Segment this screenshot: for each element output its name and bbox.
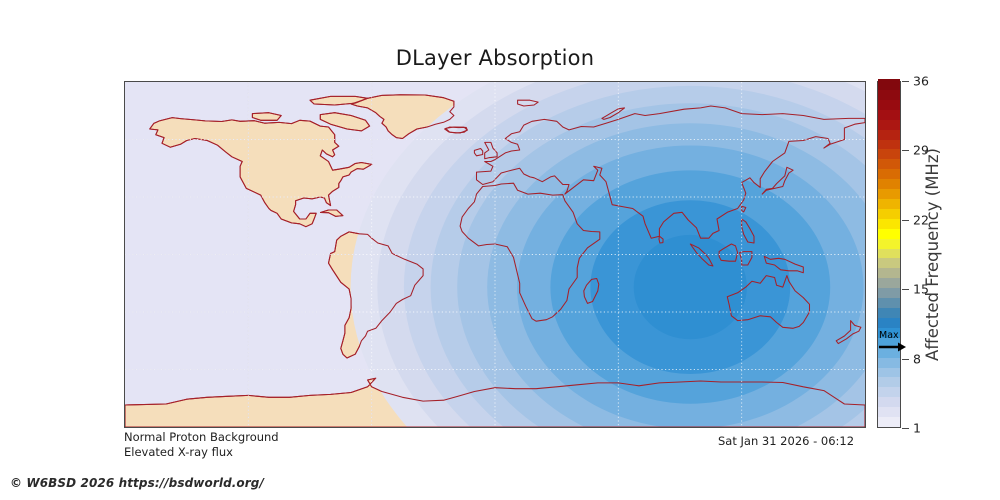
status-proton-background: Normal Proton Background (124, 430, 279, 445)
status-annotations: Normal Proton Background Elevated X-ray … (124, 430, 279, 459)
colorbar-axis-label: Affected Frequency (MHz) (921, 81, 943, 428)
timestamp-label: Sat Jan 31 2026 - 06:12 (718, 434, 854, 448)
page-title: DLayer Absorption (124, 45, 866, 71)
colorbar-axis-label-text: Affected Frequency (MHz) (923, 148, 942, 361)
colorbar-tick-label: 8 (913, 352, 921, 365)
colorbar-tick (902, 220, 909, 221)
colorbar-tick (902, 359, 909, 360)
colorbar-tick (902, 289, 909, 290)
world-map-panel[interactable] (124, 81, 866, 428)
status-xray-flux: Elevated X-ray flux (124, 445, 279, 460)
absorption-contour-9.6 (634, 235, 747, 339)
world-map-svg (125, 82, 865, 427)
colorbar-tick (902, 428, 909, 429)
colorbar-tick-label: 1 (913, 422, 921, 435)
copyright-label: © W6BSD 2026 https://bsdworld.org/ (10, 476, 264, 490)
colorbar-tick (902, 81, 909, 82)
colorbar-tick (902, 150, 909, 151)
